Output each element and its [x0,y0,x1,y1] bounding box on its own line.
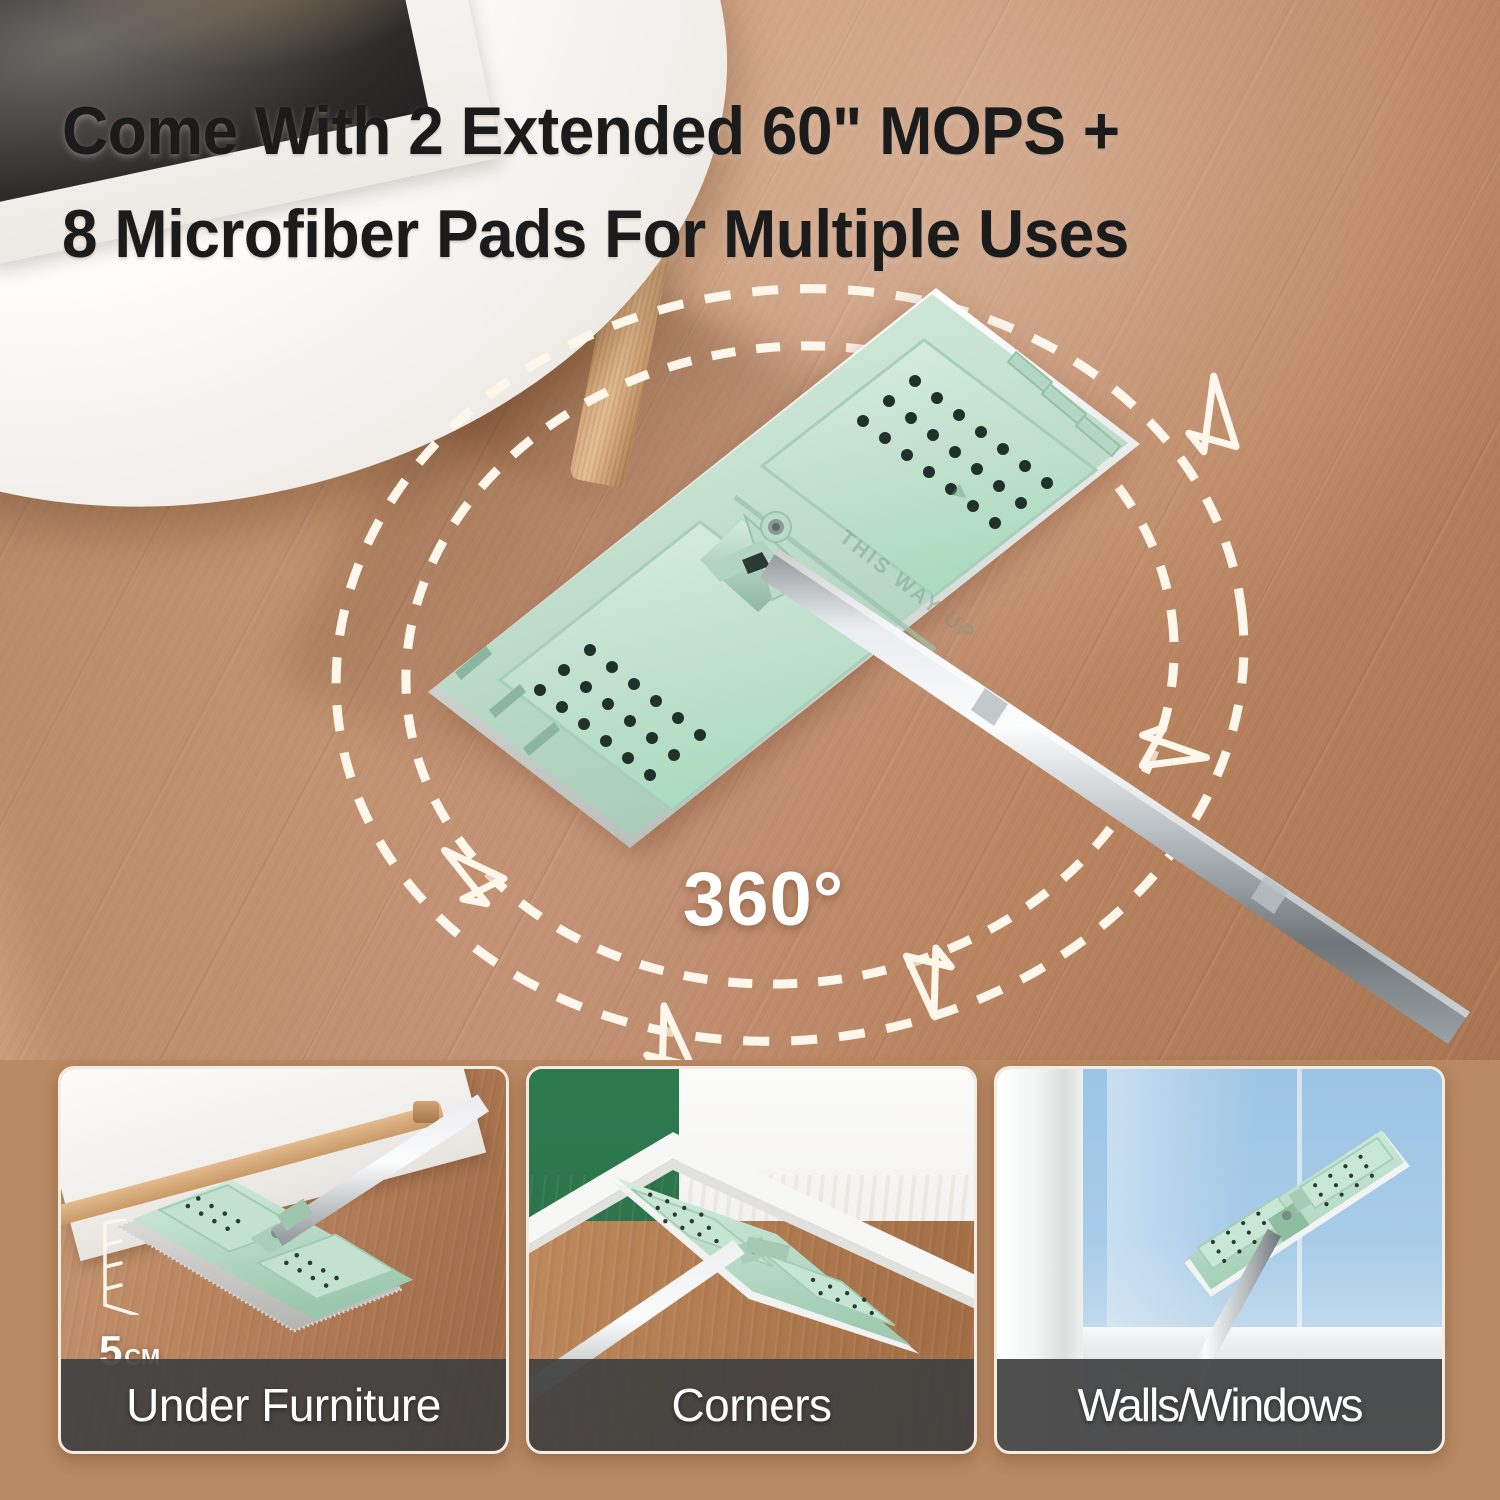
headline-line-2: 8 Microfiber Pads For Multiple Uses [62,183,1359,286]
panel-corners[interactable]: Corners [526,1066,977,1454]
panel-2-label: Corners [529,1359,974,1451]
panel-1-label: Under Furniture [61,1359,506,1451]
panel-under-furniture[interactable]: 5 CM Under Furniture [58,1066,509,1454]
panel-3-label: Walls/Windows [997,1359,1442,1451]
product-infographic: 360° [0,0,1500,1500]
panel-walls-windows[interactable]: Walls/Windows [994,1066,1445,1454]
headline-line-1: Come With 2 Extended 60" MOPS + [62,93,1120,169]
page-title: Come With 2 Extended 60" MOPS + 8 Microf… [62,80,1359,287]
clearance-ruler-icon [99,1219,143,1315]
mop-handle [760,548,1470,1044]
panel-1-handle [271,1094,489,1245]
use-case-panels: 5 CM Under Furniture [0,1060,1500,1500]
